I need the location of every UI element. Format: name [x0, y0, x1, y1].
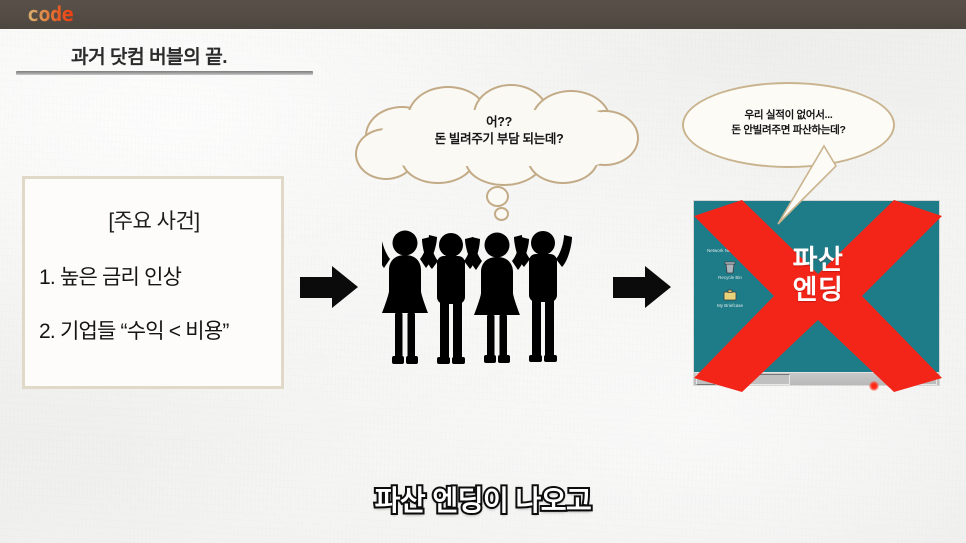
thought-line-2: 돈 빌려주기 부담 되는데?	[355, 131, 643, 148]
top-bar: code	[0, 0, 966, 29]
arrow-shaft	[613, 277, 647, 298]
arrow-head	[332, 266, 358, 308]
desktop-icon-my-computer[interactable]: My Computer	[700, 205, 760, 226]
thought-tail-dot-large	[486, 186, 509, 207]
code-logo[interactable]: code	[27, 3, 73, 26]
speech-line-1: 우리 실적이 없어서...	[682, 108, 895, 123]
thought-line-1: 어??	[355, 114, 643, 131]
taskbar-task-button[interactable]: Document	[718, 374, 790, 385]
page-title: 과거 닷컴 버블의 끝.	[71, 42, 227, 69]
start-button[interactable]: Start	[696, 374, 715, 385]
windows-taskbar: Start Document 11:24 AM	[694, 372, 939, 385]
my-computer-icon	[722, 205, 738, 219]
thought-bubble-text: 어?? 돈 빌려주기 부담 되는데?	[355, 114, 643, 148]
major-events-box: [주요 사건] 1. 높은 금리 인상 2. 기업들 “수익 < 비용”	[22, 176, 284, 389]
thought-bubble: 어?? 돈 빌려주기 부담 되는데?	[355, 84, 643, 186]
bankruptcy-ending-label: 파산 엔딩	[690, 245, 946, 305]
title-underline-rule	[16, 71, 313, 75]
speech-line-2: 돈 안빌려주면 파산하는데?	[682, 123, 895, 138]
arrow-head	[645, 266, 671, 308]
desktop-icon-label: My Computer	[700, 220, 760, 226]
system-tray-clock: 11:24 AM	[908, 374, 937, 385]
thought-tail-dot-small	[494, 207, 509, 221]
arrow-shaft	[300, 277, 334, 298]
cheering-people-icon	[382, 226, 572, 371]
x-label-line-1: 파산	[690, 245, 946, 275]
bottom-caption: 파산 엔딩이 나오고	[0, 479, 966, 519]
speech-balloon-tail	[770, 140, 840, 230]
x-label-line-2: 엔딩	[690, 275, 946, 305]
event-item-2: 2. 기업들 “수익 < 비용”	[39, 315, 269, 345]
red-cursor-dot-icon	[869, 381, 879, 391]
slide-canvas: code 과거 닷컴 버블의 끝. [주요 사건] 1. 높은 금리 인상 2.…	[0, 0, 966, 543]
major-events-heading: [주요 사건]	[39, 205, 269, 235]
event-item-1: 1. 높은 금리 인상	[39, 261, 269, 291]
speech-balloon-text: 우리 실적이 없어서... 돈 안빌려주면 파산하는데?	[682, 108, 895, 138]
